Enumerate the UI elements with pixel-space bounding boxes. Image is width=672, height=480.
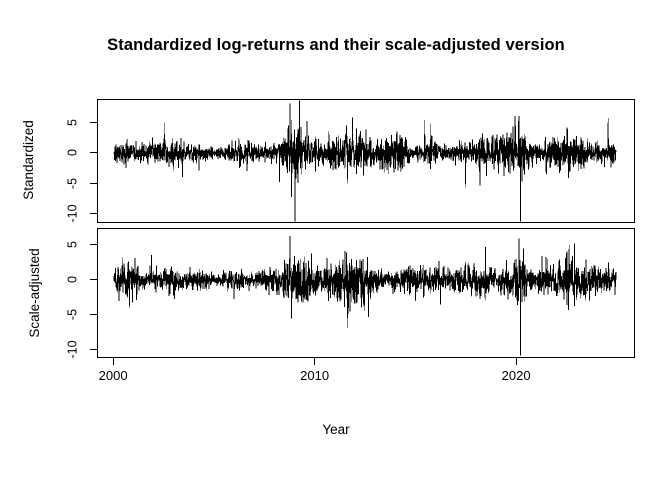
x-tick-mark [314, 358, 315, 365]
y-tick-mark-standardized [90, 152, 97, 153]
y-tick-label-scale-adjusted: 5 [66, 228, 81, 262]
panel-scale-adjusted [97, 228, 635, 358]
y-axis-title-scale-adjusted: Scale-adjusted [27, 228, 43, 358]
y-tick-mark-scale-adjusted [90, 279, 97, 280]
y-tick-label-standardized: 0 [66, 136, 81, 170]
y-tick-label-scale-adjusted: -5 [66, 298, 81, 332]
x-tick-mark [113, 358, 114, 365]
y-tick-mark-standardized [90, 183, 97, 184]
y-tick-mark-standardized [90, 122, 97, 123]
x-tick-label: 2020 [486, 368, 546, 383]
y-tick-mark-standardized [90, 213, 97, 214]
page-title: Standardized log-returns and their scale… [0, 36, 672, 55]
y-tick-label-scale-adjusted: -10 [66, 333, 81, 367]
y-axis-title-standardized: Standardized [21, 99, 37, 221]
x-tick-label: 2000 [83, 368, 143, 383]
y-tick-mark-scale-adjusted [90, 349, 97, 350]
y-tick-label-standardized: -5 [66, 166, 81, 200]
x-axis-title: Year [0, 422, 672, 437]
y-tick-mark-scale-adjusted [90, 244, 97, 245]
x-tick-mark [516, 358, 517, 365]
series-standardized [98, 100, 634, 222]
plot-figure: Standardized log-returns and their scale… [0, 0, 672, 480]
panel-standardized [97, 99, 635, 223]
x-tick-label: 2010 [285, 368, 345, 383]
series-scale-adjusted [98, 229, 634, 357]
y-tick-label-standardized: 5 [66, 106, 81, 140]
y-tick-label-scale-adjusted: 0 [66, 263, 81, 297]
y-tick-mark-scale-adjusted [90, 314, 97, 315]
y-tick-label-standardized: -10 [66, 196, 81, 230]
